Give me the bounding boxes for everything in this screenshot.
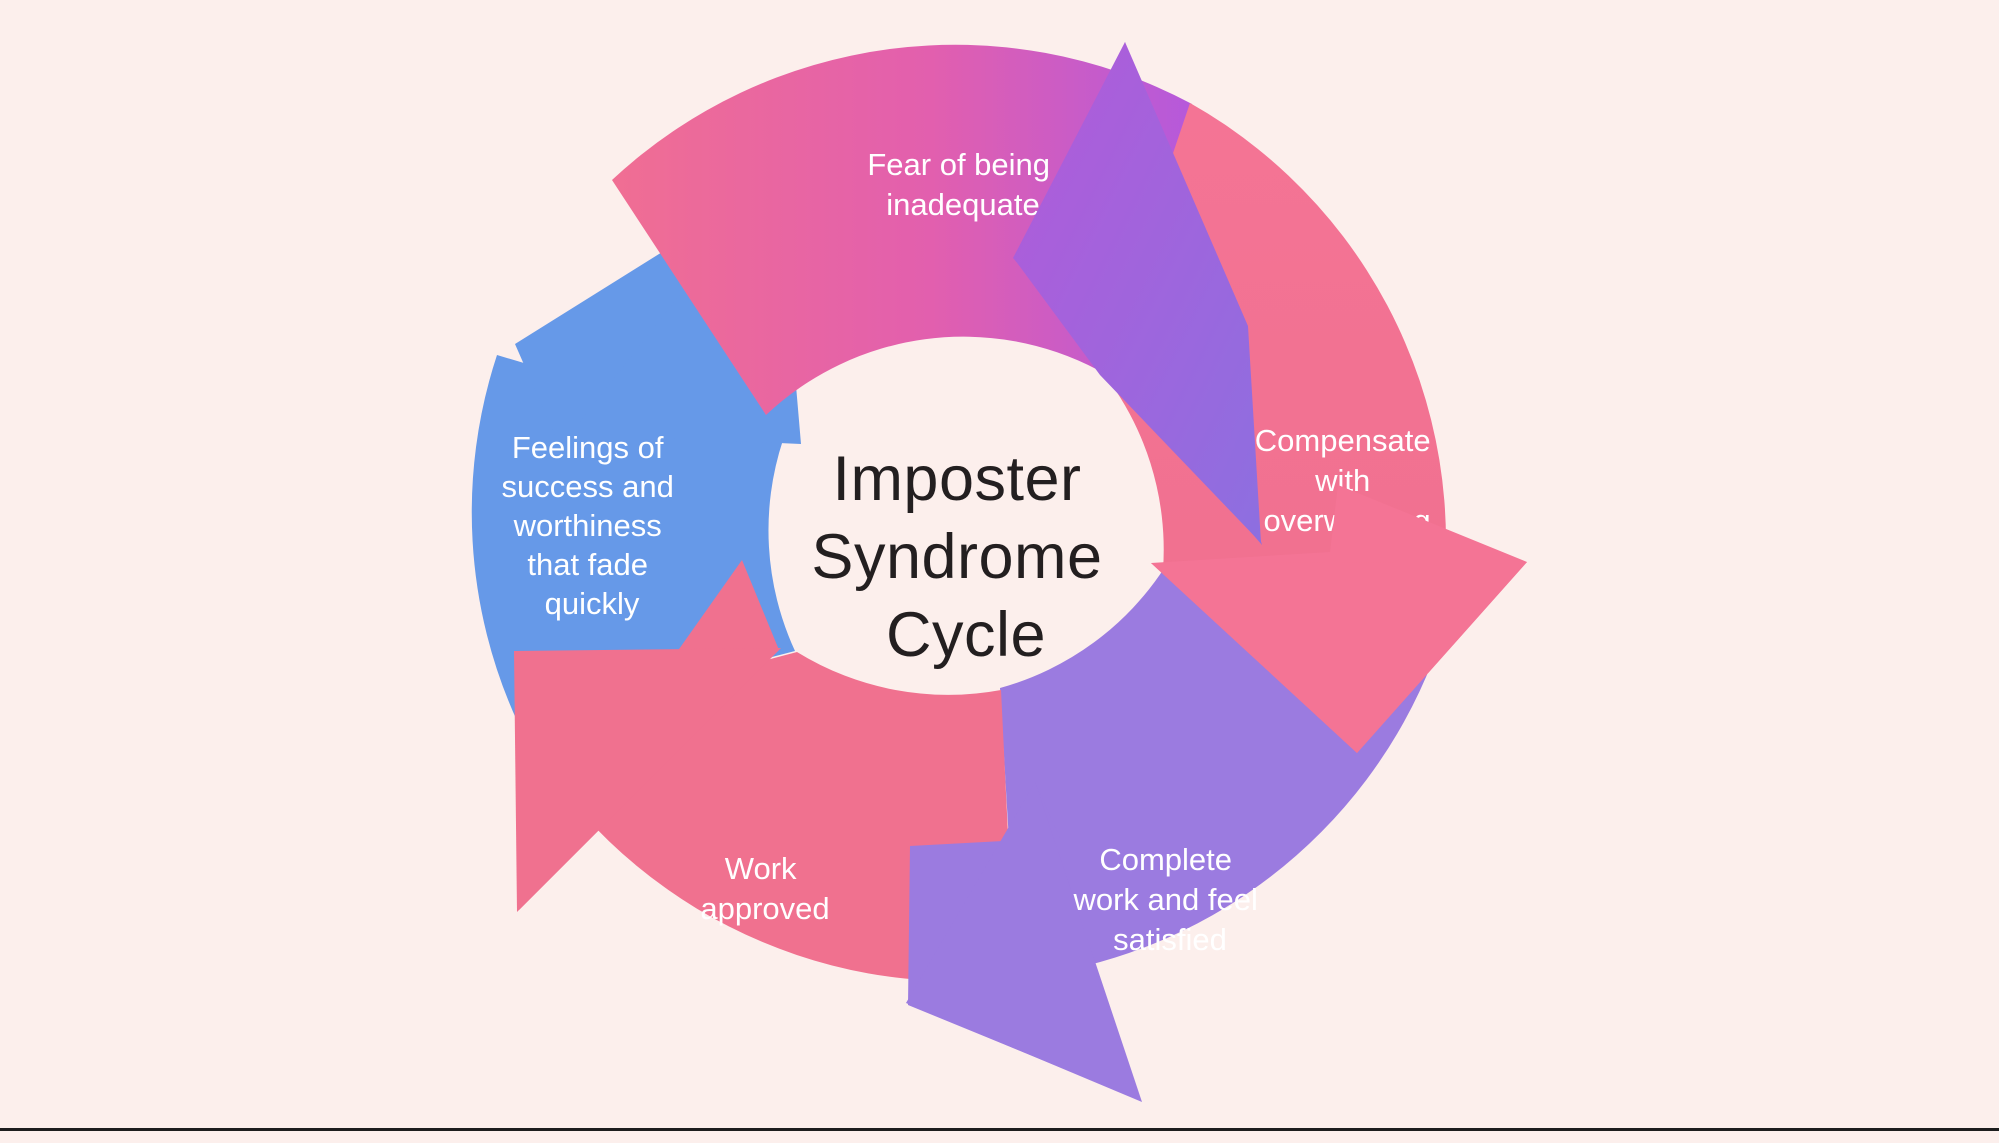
imposter-syndrome-cycle-diagram: Feelings of success and worthiness that … <box>0 0 1999 1143</box>
bottom-divider <box>0 1128 1999 1131</box>
cycle-canvas: Feelings of success and worthiness that … <box>0 0 1999 1143</box>
